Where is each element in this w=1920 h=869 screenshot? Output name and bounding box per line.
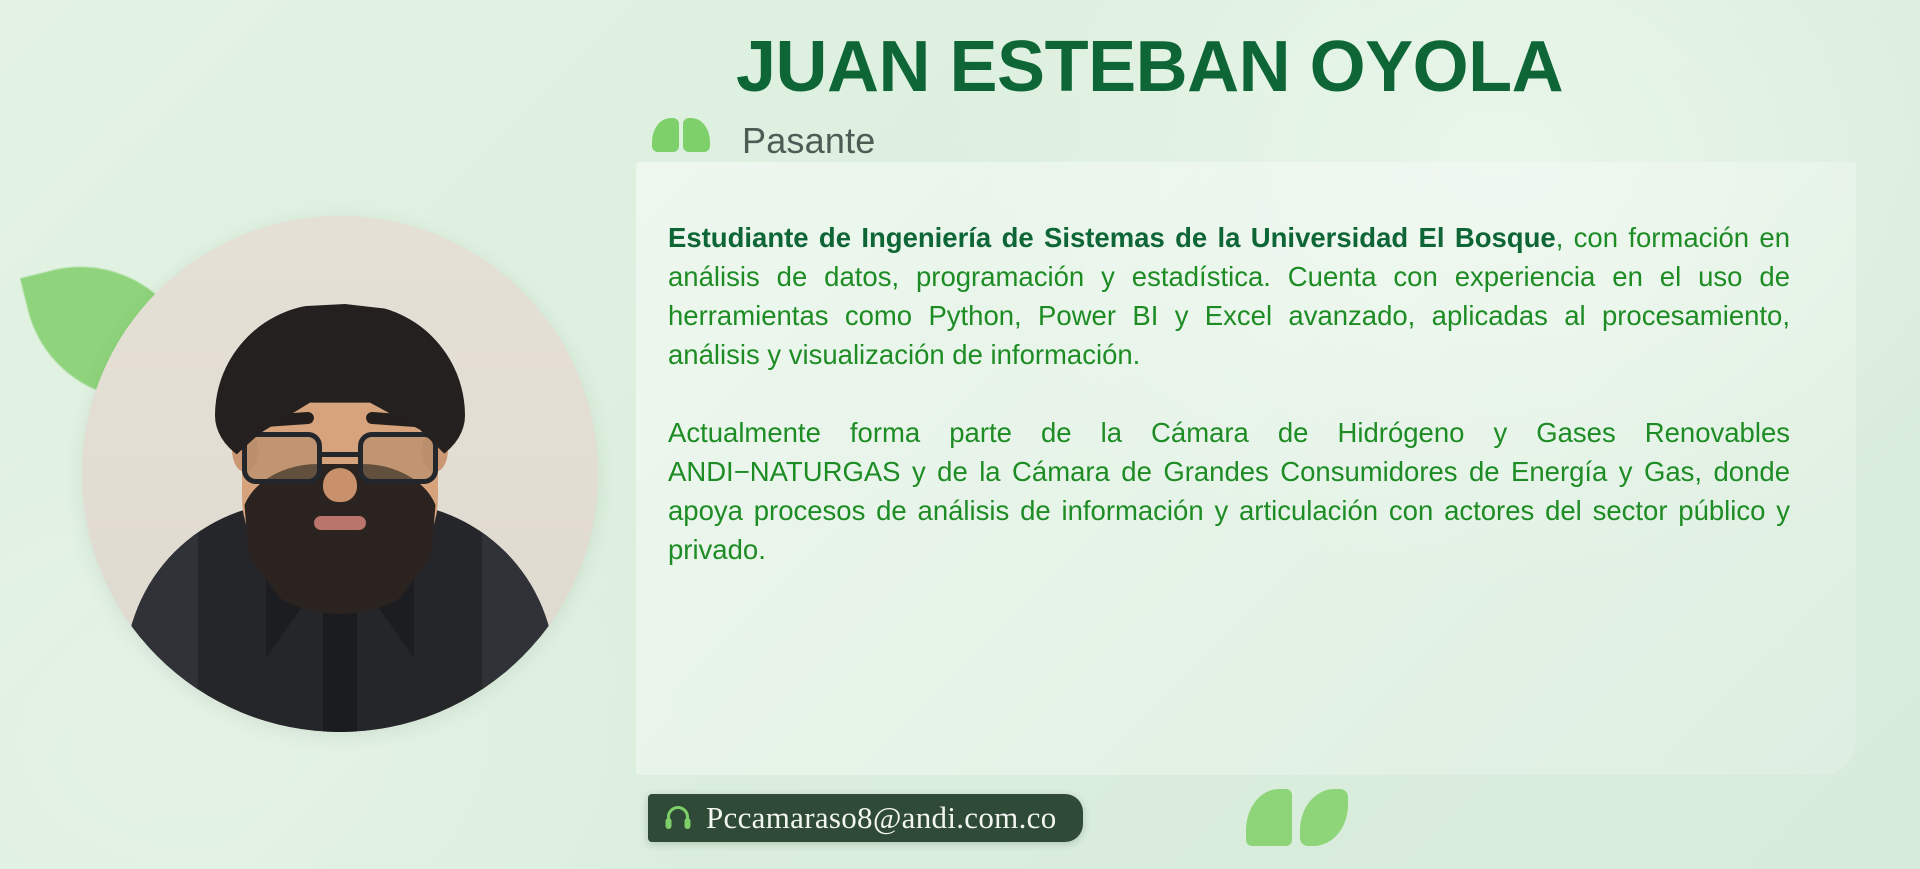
glasses-lens-right [358, 432, 438, 484]
role-subtitle: Pasante [742, 120, 876, 162]
bio-text: Estudiante de Ingeniería de Sistemas de … [668, 218, 1790, 569]
leaf-logo-half-right [683, 118, 710, 152]
contact-email-bar[interactable]: Pccamaraso8@andi.com.co [648, 794, 1083, 842]
leaf-logo-half-left [652, 118, 679, 152]
bio-paragraph-2: Actualmente forma parte de la Cámara de … [668, 413, 1790, 569]
avatar [82, 216, 598, 732]
bio-lead: Estudiante de Ingeniería de Sistemas de … [668, 222, 1556, 253]
portrait-glasses [242, 432, 438, 484]
glasses-lens-left [242, 432, 322, 484]
leaf-pair-shape-left [1246, 789, 1292, 846]
glasses-bridge [322, 452, 358, 457]
leaf-pair-decoration-icon [1246, 789, 1348, 846]
contact-email-text: Pccamaraso8@andi.com.co [706, 800, 1057, 836]
leaf-logo-icon [652, 118, 710, 152]
bio-paragraph-1: Estudiante de Ingeniería de Sistemas de … [668, 218, 1790, 374]
portrait-mouth [314, 516, 366, 530]
page-title: JUAN ESTEBAN OYOLA [736, 26, 1563, 108]
profile-card: JUAN ESTEBAN OYOLA Pasante Estudiante de… [0, 0, 1920, 869]
headset-icon [664, 805, 692, 831]
portrait-photo [82, 216, 598, 732]
leaf-pair-shape-right [1300, 789, 1348, 846]
